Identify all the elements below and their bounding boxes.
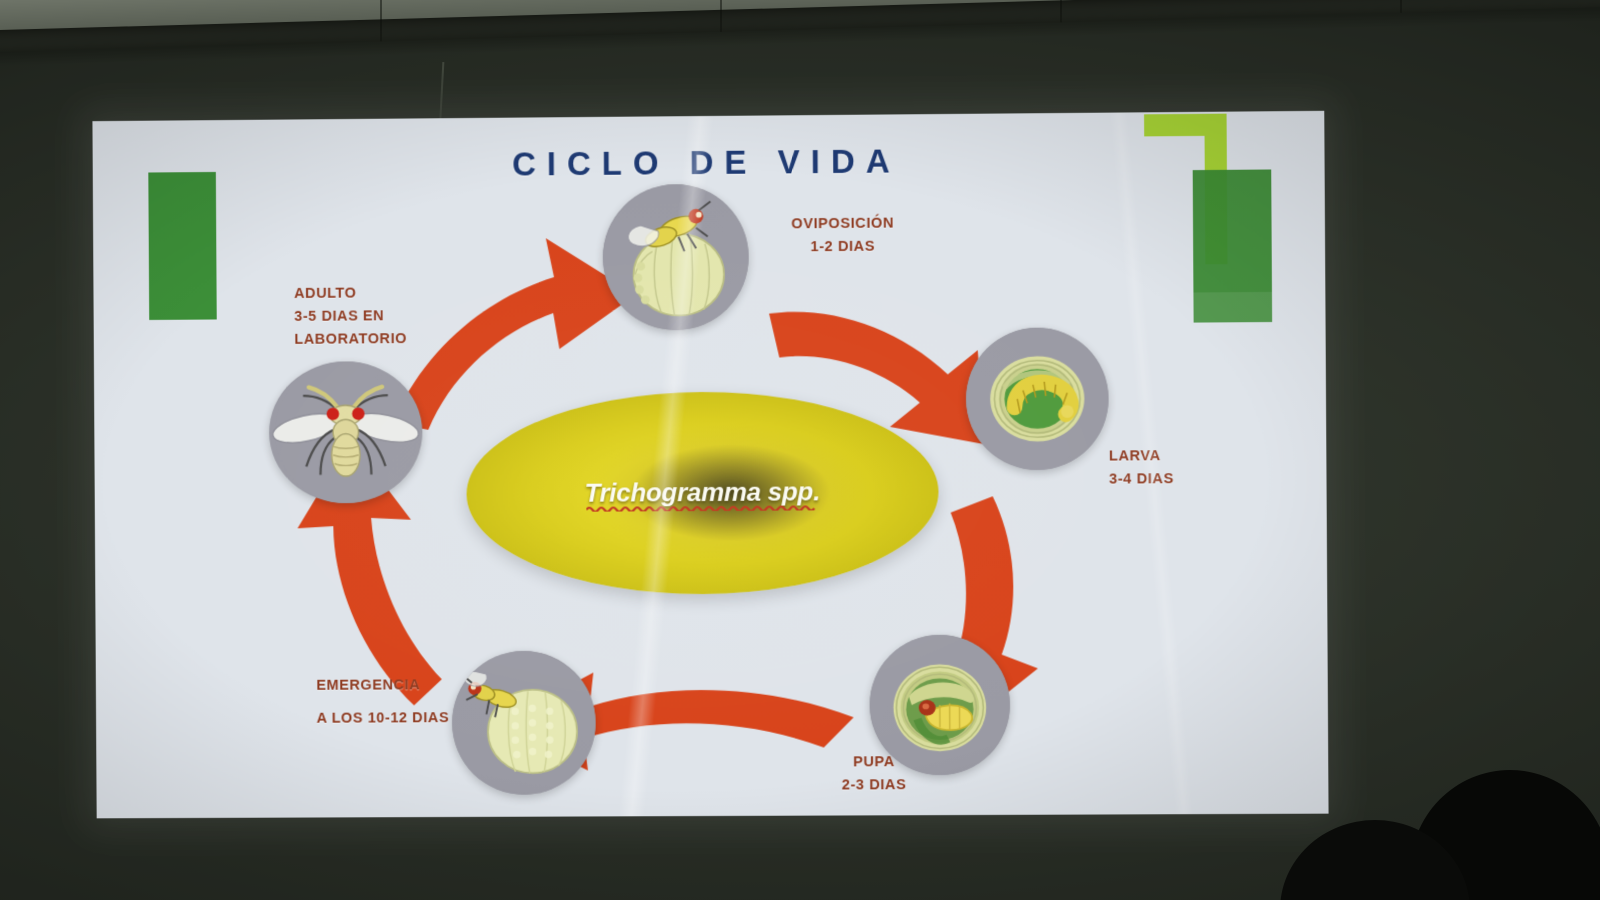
label-emergencia-line-1: EMERGENCIA [316, 669, 515, 703]
wasp-on-egg-icon [602, 184, 749, 331]
stage-circle-larva[interactable] [966, 327, 1109, 470]
adult-wasp-icon [269, 361, 423, 504]
label-pupa-line-1: PUPA [804, 751, 944, 775]
label-larva-line-1: LARVA [1109, 445, 1250, 469]
label-pupa: PUPA 2-3 DIAS [804, 751, 945, 798]
label-pupa-line-2: 2-3 DIAS [804, 774, 944, 798]
stage-circle-adulto[interactable] [269, 361, 423, 504]
label-oviposicion-line-2: 1-2 DIAS [763, 236, 923, 260]
larva-in-egg-icon [966, 327, 1109, 470]
label-emergencia-line-2: A LOS 10-12 DIAS [316, 702, 515, 736]
label-oviposicion-line-1: OVIPOSICIÓN [762, 212, 922, 236]
label-adulto-line-2: 3-5 DIAS EN [294, 305, 463, 329]
label-emergencia: EMERGENCIA A LOS 10-12 DIAS [316, 669, 516, 736]
label-larva-line-2: 3-4 DIAS [1109, 468, 1250, 492]
label-adulto: ADULTO 3-5 DIAS EN LABORATORIO [294, 282, 464, 353]
label-adulto-line-3: LABORATORIO [294, 328, 463, 352]
label-larva: LARVA 3-4 DIAS [1109, 445, 1250, 492]
stage-circle-oviposicion[interactable] [602, 184, 749, 331]
label-oviposicion: OVIPOSICIÓN 1-2 DIAS [762, 212, 923, 260]
spellcheck-squiggle-underline [586, 504, 818, 511]
label-adulto-line-1: ADULTO [294, 282, 463, 306]
presentation-slide: CICLO DE VIDA Trichogramma spp. [92, 111, 1328, 819]
projected-slide-photo: CICLO DE VIDA Trichogramma spp. [0, 0, 1600, 900]
